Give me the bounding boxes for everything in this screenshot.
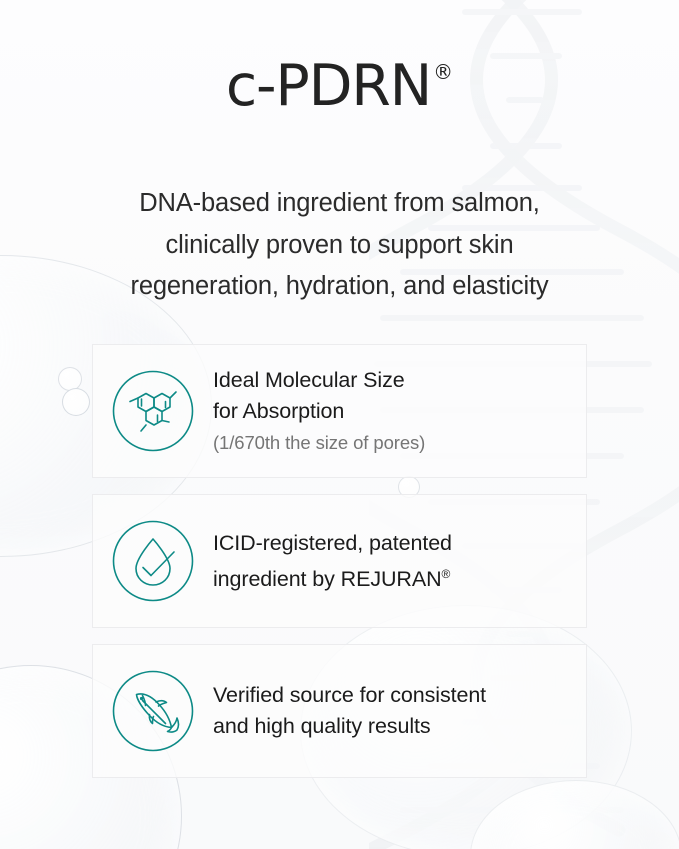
feature-card-icon-wrap: [93, 370, 213, 452]
water-drop-check-icon: [112, 520, 194, 602]
feature-card-molecular-size: Ideal Molecular Size for Absorption (1/6…: [92, 344, 587, 478]
page-title: c-PDRN®: [0, 58, 679, 115]
feature-card-text: ICID-registered, patented ingredient by …: [213, 528, 586, 595]
fish-icon: [112, 670, 194, 752]
subtitle-line-2: clinically proven to support skin: [0, 225, 679, 267]
feature-card-subtext: (1/670th the size of pores): [213, 428, 572, 458]
feature-card-title-line-2-text: ingredient by REJURAN: [213, 567, 442, 591]
feature-card-title-line-2: for Absorption: [213, 396, 572, 427]
feature-card-title-line-1: ICID-registered, patented: [213, 528, 572, 559]
feature-card-title-line-2: and high quality results: [213, 711, 572, 742]
page-subtitle: DNA-based ingredient from salmon, clinic…: [0, 183, 679, 308]
rejuran-registered-mark: ®: [442, 567, 451, 581]
feature-card-icon-wrap: [93, 520, 213, 602]
feature-card-title-line-1: Ideal Molecular Size: [213, 365, 572, 396]
feature-card-text: Verified source for consistent and high …: [213, 680, 586, 742]
subtitle-line-3: regeneration, hydration, and elasticity: [0, 266, 679, 308]
feature-card-icid-registered: ICID-registered, patented ingredient by …: [92, 494, 587, 628]
registered-trademark-symbol: ®: [433, 60, 453, 84]
subtitle-line-1: DNA-based ingredient from salmon,: [0, 183, 679, 225]
product-infographic-page: c-PDRN® DNA-based ingredient from salmon…: [0, 0, 679, 849]
page-title-text: c-PDRN: [226, 53, 431, 119]
feature-card-text: Ideal Molecular Size for Absorption (1/6…: [213, 365, 586, 458]
content-layer: c-PDRN® DNA-based ingredient from salmon…: [0, 0, 679, 849]
feature-card-verified-source: Verified source for consistent and high …: [92, 644, 587, 778]
feature-card-icon-wrap: [93, 670, 213, 752]
feature-card-title-line-1: Verified source for consistent: [213, 680, 572, 711]
feature-card-title-line-2: ingredient by REJURAN®: [213, 559, 572, 595]
molecule-icon: [112, 370, 194, 452]
feature-card-list: Ideal Molecular Size for Absorption (1/6…: [92, 344, 587, 778]
